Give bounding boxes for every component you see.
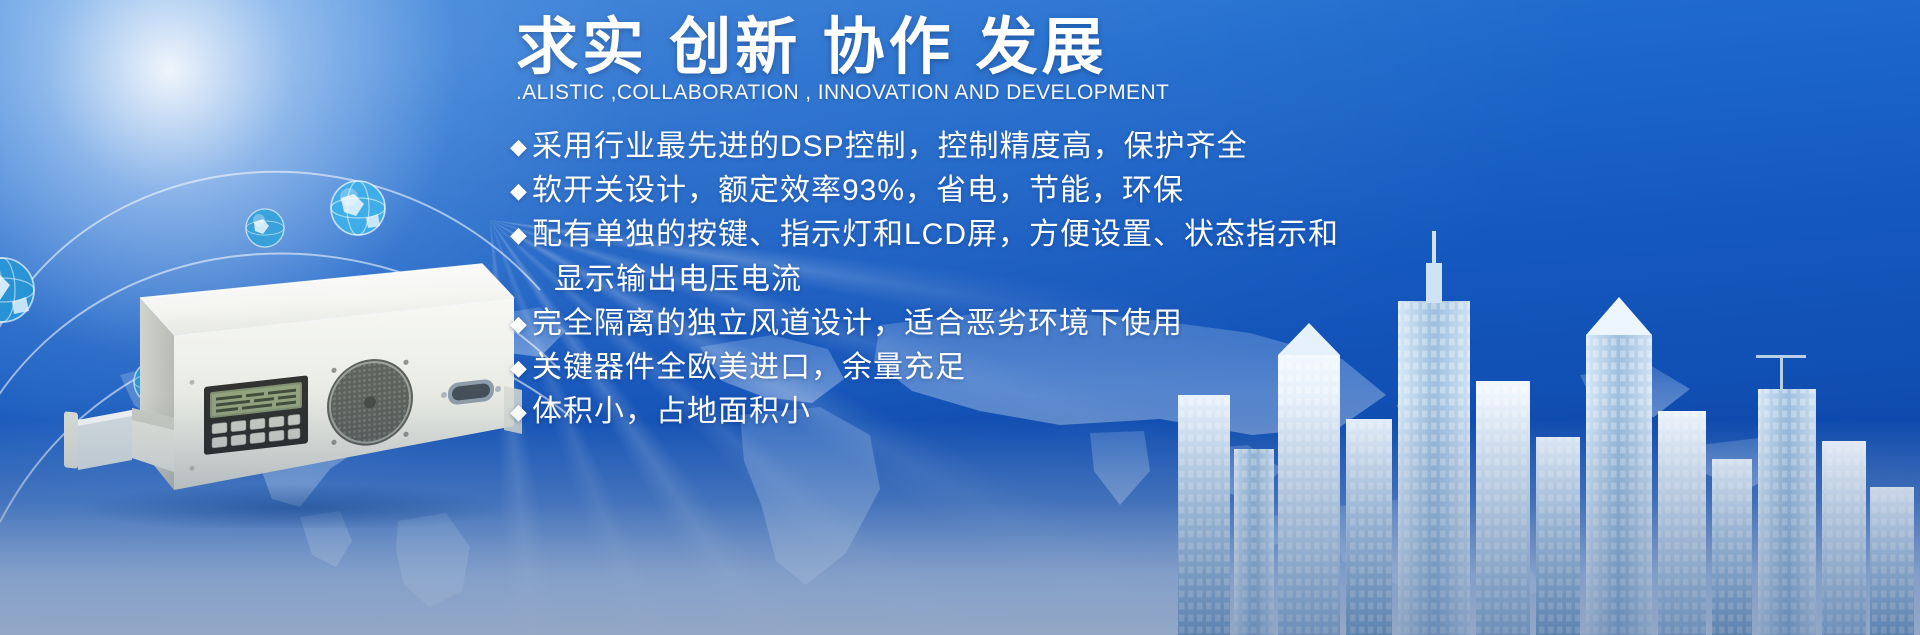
vignette-overlay	[0, 0, 1920, 635]
promo-banner: 求实 创新 协作 发展 .ALISTIC ,COLLABORATION , IN…	[0, 0, 1920, 635]
